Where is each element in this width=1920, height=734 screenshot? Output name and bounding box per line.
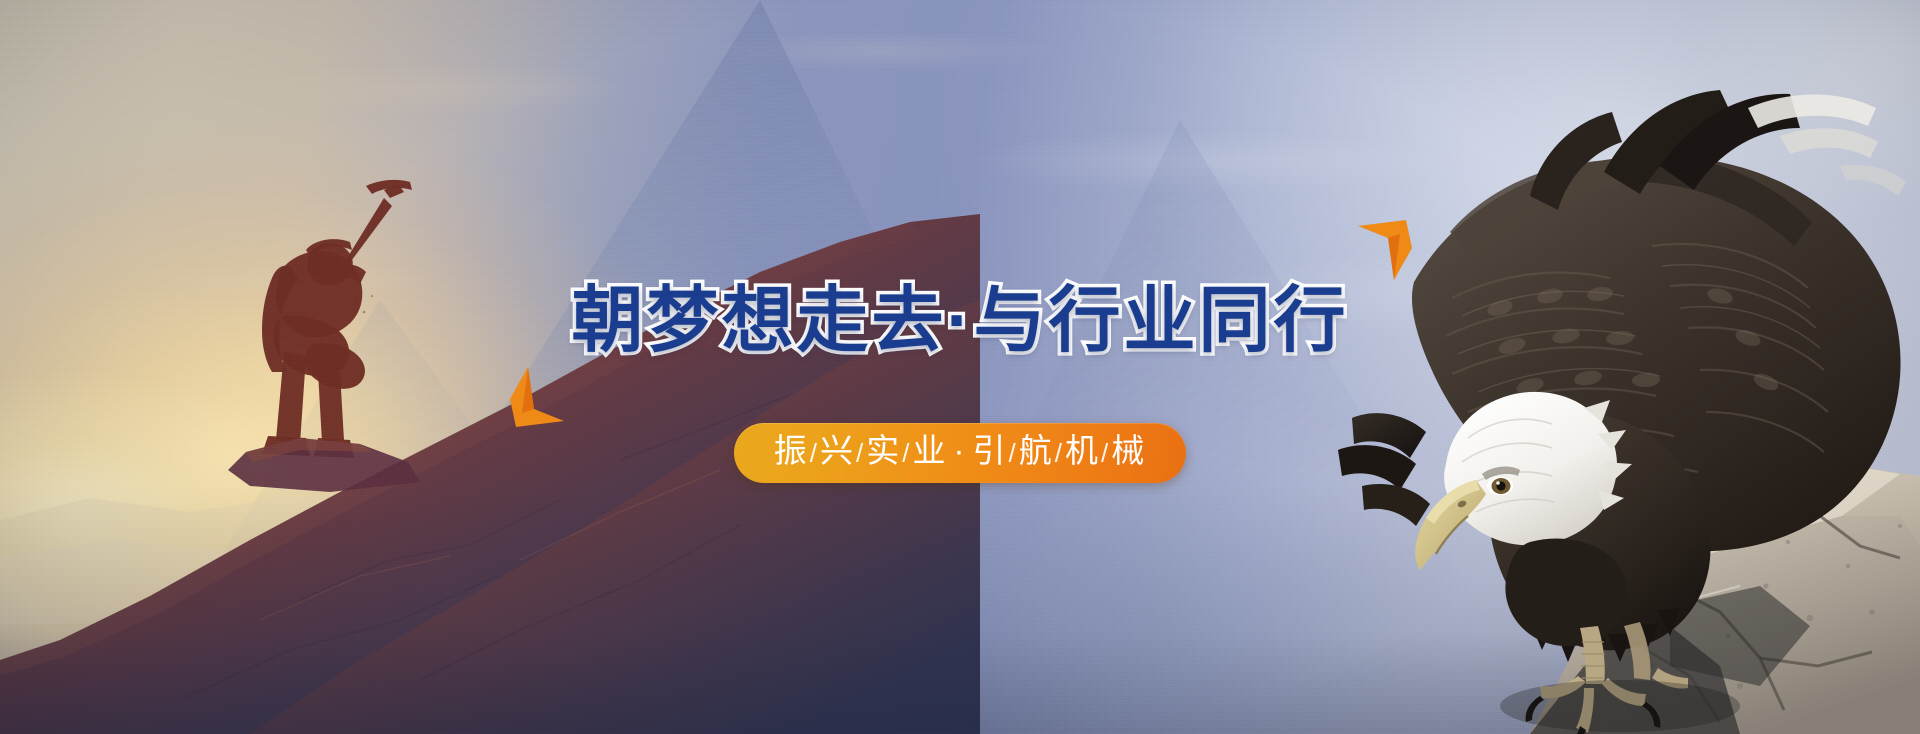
subtitle-sep-1: / xyxy=(809,438,820,468)
subtitle-row: 振/兴/实/业·引/航/机/械 xyxy=(0,423,1920,483)
subtitle-part-2: 兴 xyxy=(820,432,855,469)
subtitle-pill: 振/兴/实/业·引/航/机/械 xyxy=(734,423,1186,483)
subtitle-sep-11: / xyxy=(1054,438,1065,468)
banner-text-block: 朝梦想走去·与行业同行 振/兴/实/业·引/航/机/械 xyxy=(0,236,1920,483)
subtitle-middot: · xyxy=(948,432,973,469)
subtitle-part-4: 实 xyxy=(866,432,901,469)
hero-banner: 朝梦想走去·与行业同行 振/兴/实/业·引/航/机/械 xyxy=(0,0,1920,734)
subtitle-part-0: 振 xyxy=(774,432,809,469)
orange-accent-right-icon xyxy=(1358,210,1414,282)
headline-row: 朝梦想走去·与行业同行 xyxy=(526,236,1395,407)
subtitle-sep-13: / xyxy=(1100,438,1111,468)
subtitle-sep-5: / xyxy=(901,438,912,468)
subtitle-sep-9: / xyxy=(1008,438,1019,468)
page-title: 朝梦想走去·与行业同行 xyxy=(572,284,1349,359)
subtitle-part-14: 械 xyxy=(1111,432,1146,469)
subtitle-sep-3: / xyxy=(855,438,866,468)
subtitle-part-10: 航 xyxy=(1019,432,1054,469)
subtitle-part-6: 业 xyxy=(913,432,948,469)
subtitle-part-8: 引 xyxy=(973,432,1008,469)
orange-accent-left-icon xyxy=(508,365,564,437)
subtitle-part-12: 机 xyxy=(1065,432,1100,469)
